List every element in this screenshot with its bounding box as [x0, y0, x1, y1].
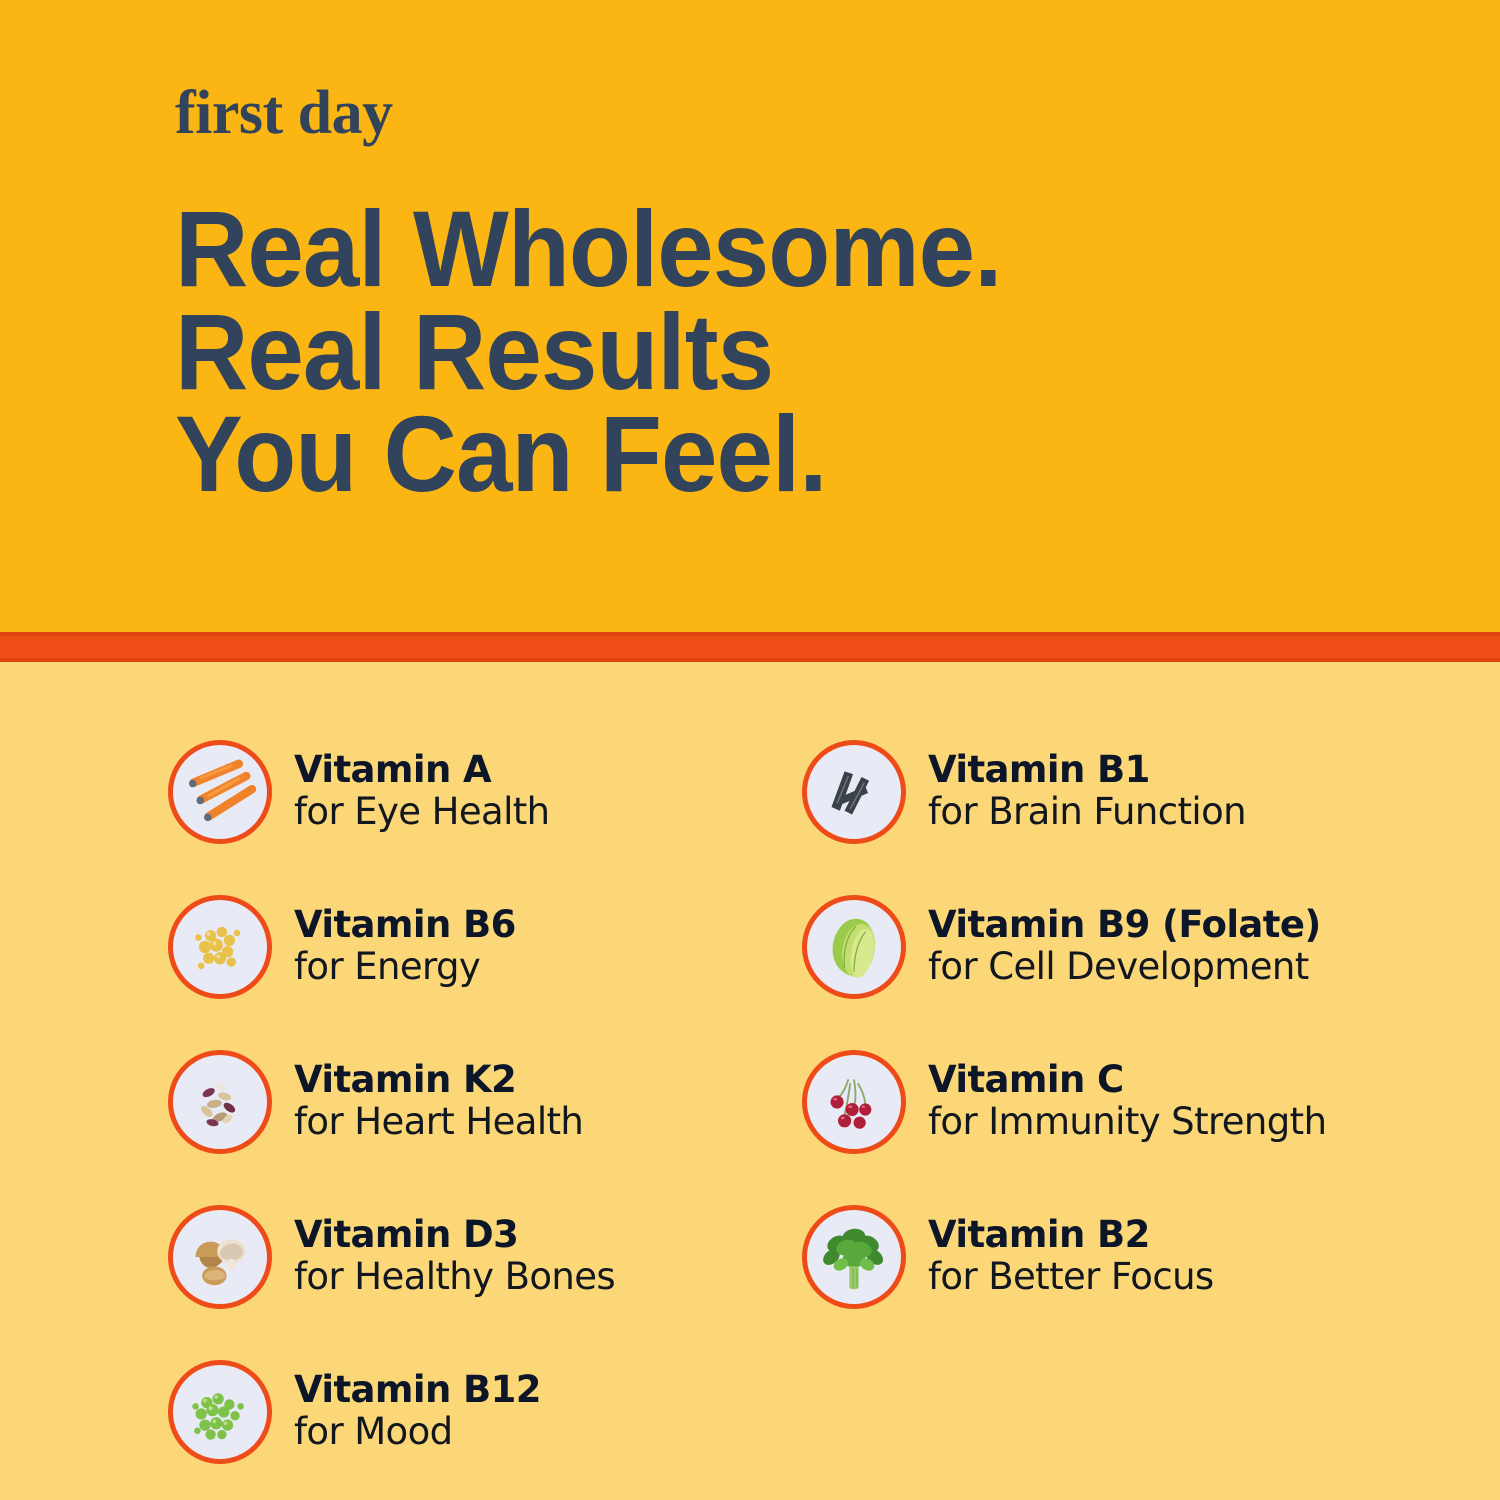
benefit-item-vitamin-b6: Vitamin B6 for Energy [168, 869, 780, 1024]
spinach-icon [802, 1205, 906, 1309]
vitamin-desc: for Healthy Bones [294, 1256, 615, 1297]
cherries-icon [802, 1050, 906, 1154]
headline-line-3: You Can Feel. [175, 403, 1421, 506]
benefit-text: Vitamin B6 for Energy [294, 905, 516, 988]
vitamin-desc: for Energy [294, 946, 516, 987]
headline-line-1: Real Wholesome. [175, 198, 1421, 301]
benefit-item-vitamin-k2: Vitamin K2 for Heart Health [168, 1024, 780, 1179]
hero-section: first day Real Wholesome. Real Results Y… [0, 0, 1500, 632]
vitamin-desc: for Brain Function [928, 791, 1246, 832]
benefit-text: Vitamin K2 for Heart Health [294, 1060, 583, 1143]
marketing-graphic: first day Real Wholesome. Real Results Y… [0, 0, 1500, 1500]
vitamin-desc: for Eye Health [294, 791, 550, 832]
benefits-grid: Vitamin A for Eye Health [168, 714, 1460, 1489]
seaweed-icon [802, 740, 906, 844]
benefit-text: Vitamin B12 for Mood [294, 1370, 541, 1453]
benefit-item-vitamin-b1: Vitamin B1 for Brain Function [802, 714, 1460, 869]
benefit-item-vitamin-b9: Vitamin B9 (Folate) for Cell Development [802, 869, 1460, 1024]
vitamin-name: Vitamin B1 [928, 750, 1246, 789]
headline-line-2: Real Results [175, 301, 1421, 404]
vitamin-desc: for Immunity Strength [928, 1101, 1326, 1142]
vitamin-name: Vitamin B6 [294, 905, 516, 944]
vitamin-desc: for Mood [294, 1411, 541, 1452]
vitamin-name: Vitamin B12 [294, 1370, 541, 1409]
lettuce-icon [802, 895, 906, 999]
vitamin-name: Vitamin C [928, 1060, 1326, 1099]
benefit-text: Vitamin D3 for Healthy Bones [294, 1215, 615, 1298]
vitamin-name: Vitamin A [294, 750, 550, 789]
vitamin-name: Vitamin D3 [294, 1215, 615, 1254]
benefit-text: Vitamin C for Immunity Strength [928, 1060, 1326, 1143]
benefit-text: Vitamin B2 for Better Focus [928, 1215, 1214, 1298]
benefit-item-vitamin-b12: Vitamin B12 for Mood [168, 1334, 780, 1489]
mushrooms-icon [168, 1205, 272, 1309]
benefit-text: Vitamin B9 (Folate) for Cell Development [928, 905, 1321, 988]
vitamin-desc: for Better Focus [928, 1256, 1214, 1297]
vitamin-name: Vitamin B2 [928, 1215, 1214, 1254]
peas-icon [168, 1360, 272, 1464]
divider-bottom-line [0, 658, 1500, 662]
vitamin-name: Vitamin K2 [294, 1060, 583, 1099]
divider-band [0, 636, 1500, 658]
vitamin-name: Vitamin B9 (Folate) [928, 905, 1321, 944]
benefit-item-vitamin-c: Vitamin C for Immunity Strength [802, 1024, 1460, 1179]
benefit-item-vitamin-a: Vitamin A for Eye Health [168, 714, 780, 869]
benefit-item-vitamin-b2: Vitamin B2 for Better Focus [802, 1179, 1460, 1334]
vitamin-desc: for Heart Health [294, 1101, 583, 1142]
carrots-icon [168, 740, 272, 844]
vitamin-desc: for Cell Development [928, 946, 1321, 987]
section-divider [0, 632, 1500, 662]
brand-logo: first day [175, 82, 1500, 144]
benefit-item-vitamin-d3: Vitamin D3 for Healthy Bones [168, 1179, 780, 1334]
benefits-section: Vitamin A for Eye Health [0, 662, 1500, 1500]
benefit-text: Vitamin A for Eye Health [294, 750, 550, 833]
benefit-text: Vitamin B1 for Brain Function [928, 750, 1246, 833]
beans-icon [168, 1050, 272, 1154]
page-headline: Real Wholesome. Real Results You Can Fee… [175, 198, 1421, 506]
chickpeas-icon [168, 895, 272, 999]
